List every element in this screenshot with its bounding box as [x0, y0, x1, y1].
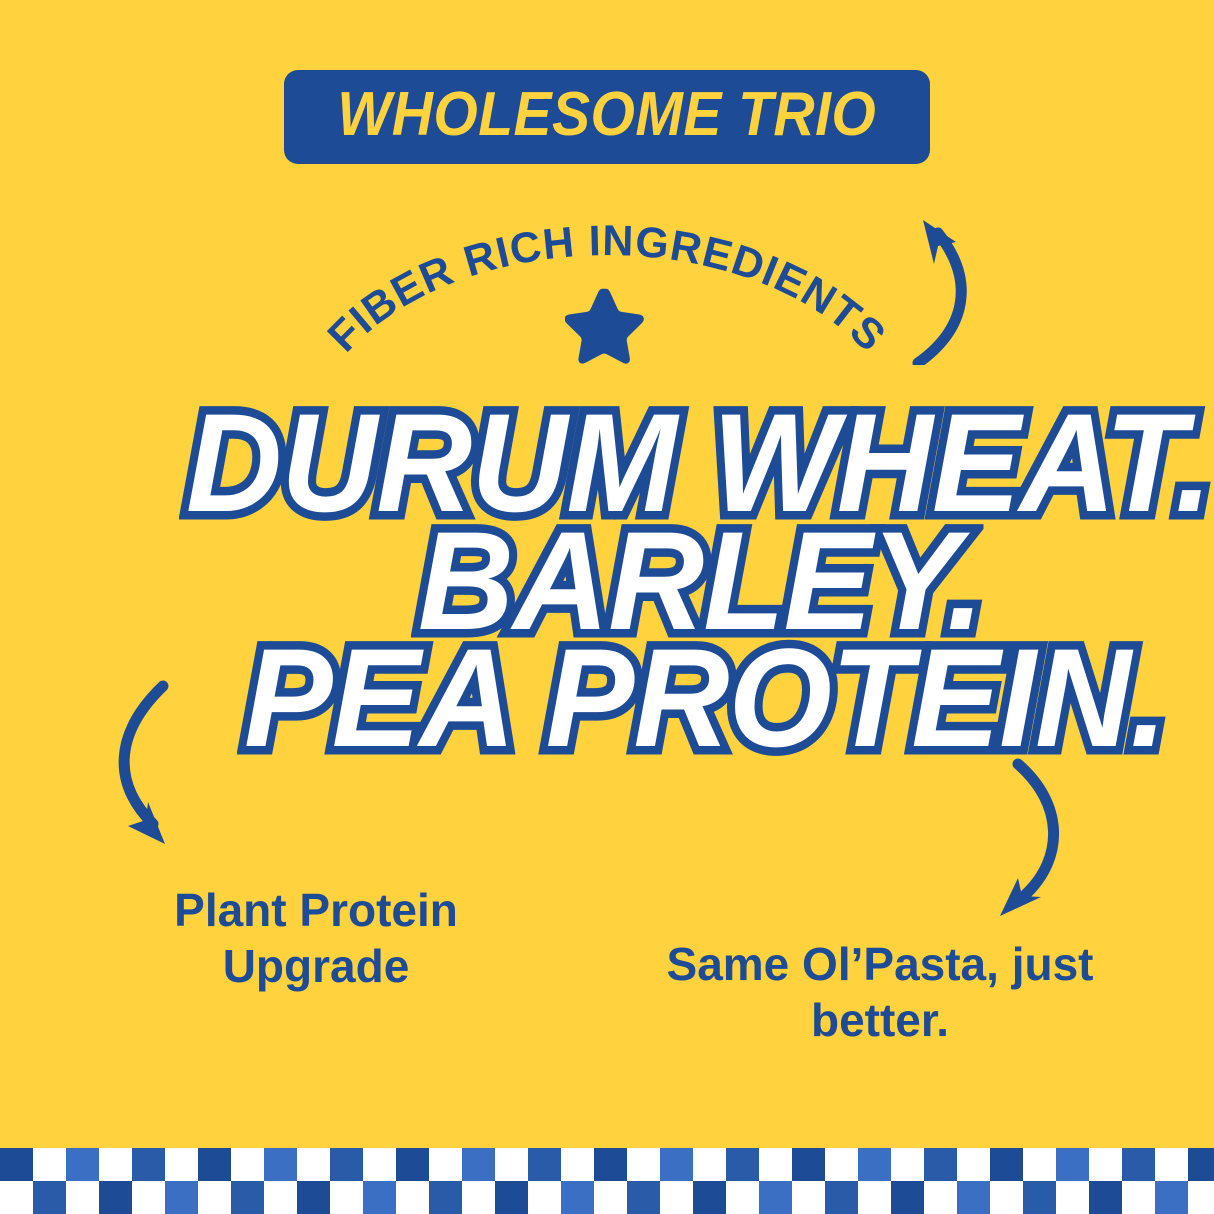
checkerboard-cell — [792, 1148, 825, 1181]
checkerboard-cell — [231, 1148, 264, 1181]
checkerboard-cell — [396, 1181, 429, 1214]
checkerboard-cell — [462, 1181, 495, 1214]
checkerboard-cell — [363, 1148, 396, 1181]
checkerboard-cell — [990, 1148, 1023, 1181]
checkerboard-cell — [264, 1181, 297, 1214]
checkerboard-cell — [330, 1148, 363, 1181]
checkerboard-cell — [264, 1148, 297, 1181]
checkerboard-cell — [1023, 1181, 1056, 1214]
checkerboard-cell — [528, 1181, 561, 1214]
headline-line-pea-protein: PEA PROTEIN. — [244, 639, 1166, 757]
checkerboard-cell — [594, 1181, 627, 1214]
checkerboard-cell — [1188, 1181, 1214, 1214]
checkerboard-cell — [528, 1148, 561, 1181]
checkerboard-cell — [0, 1148, 33, 1181]
checkerboard-cell — [561, 1181, 594, 1214]
checkerboard-cell — [132, 1181, 165, 1214]
checkerboard-cell — [297, 1148, 330, 1181]
checkerboard-cell — [1056, 1148, 1089, 1181]
checkerboard-cell — [429, 1181, 462, 1214]
checkerboard-row — [0, 1181, 1214, 1214]
checkerboard-cell — [165, 1148, 198, 1181]
checkerboard-cell — [1023, 1148, 1056, 1181]
checkerboard-cell — [561, 1148, 594, 1181]
checkerboard-cell — [726, 1148, 759, 1181]
checkerboard-cell — [858, 1181, 891, 1214]
checkerboard-cell — [759, 1148, 792, 1181]
checkerboard-cell — [957, 1181, 990, 1214]
checkerboard-cell — [825, 1181, 858, 1214]
checkerboard-cell — [198, 1181, 231, 1214]
checkerboard-cell — [330, 1181, 363, 1214]
checkerboard-cell — [231, 1181, 264, 1214]
checkerboard-cell — [891, 1181, 924, 1214]
checkerboard-cell — [990, 1181, 1023, 1214]
checkerboard-cell — [891, 1148, 924, 1181]
checkerboard-cell — [924, 1181, 957, 1214]
checkerboard-cell — [1089, 1148, 1122, 1181]
checkerboard-cell — [0, 1181, 33, 1214]
star-icon — [565, 288, 647, 366]
checkerboard-row — [0, 1148, 1214, 1181]
checkerboard-cell — [462, 1148, 495, 1181]
checkerboard-cell — [495, 1148, 528, 1181]
curved-arrow-up-icon — [890, 205, 1000, 365]
checkerboard-cell — [33, 1181, 66, 1214]
checkerboard-cell — [594, 1148, 627, 1181]
checkerboard-cell — [660, 1148, 693, 1181]
checkerboard-cell — [924, 1148, 957, 1181]
checkerboard-cell — [66, 1181, 99, 1214]
checkerboard-cell — [66, 1148, 99, 1181]
checkerboard-cell — [132, 1148, 165, 1181]
checkerboard-cell — [297, 1181, 330, 1214]
curved-arrow-down-left-icon — [988, 742, 1108, 927]
checkerboard-cell — [1188, 1148, 1214, 1181]
checkerboard-cell — [627, 1181, 660, 1214]
checkerboard-cell — [1122, 1148, 1155, 1181]
checkerboard-footer — [0, 1148, 1214, 1214]
checkerboard-cell — [726, 1181, 759, 1214]
checkerboard-cell — [792, 1181, 825, 1214]
checkerboard-cell — [1155, 1181, 1188, 1214]
checkerboard-cell — [825, 1148, 858, 1181]
checkerboard-cell — [759, 1181, 792, 1214]
checkerboard-cell — [99, 1148, 132, 1181]
checkerboard-cell — [99, 1181, 132, 1214]
wholesome-trio-badge-container: WHOLESOME TRIO — [0, 70, 1214, 164]
checkerboard-cell — [693, 1181, 726, 1214]
checkerboard-cell — [1155, 1148, 1188, 1181]
checkerboard-cell — [198, 1148, 231, 1181]
checkerboard-cell — [33, 1148, 66, 1181]
poster-canvas: WHOLESOME TRIO FIBER RICH INGREDIENTS DU… — [0, 0, 1214, 1214]
checkerboard-cell — [1056, 1181, 1089, 1214]
checkerboard-cell — [693, 1148, 726, 1181]
curved-arrow-down-right-icon — [95, 672, 215, 857]
caption-plant-protein-upgrade: Plant Protein Upgrade — [96, 882, 536, 994]
checkerboard-cell — [1122, 1181, 1155, 1214]
checkerboard-cell — [396, 1148, 429, 1181]
checkerboard-cell — [627, 1148, 660, 1181]
checkerboard-cell — [1089, 1181, 1122, 1214]
caption-same-ol-pasta: Same Ol’Pasta, just better. — [660, 936, 1100, 1048]
checkerboard-cell — [957, 1148, 990, 1181]
checkerboard-cell — [429, 1148, 462, 1181]
checkerboard-cell — [660, 1181, 693, 1214]
checkerboard-cell — [363, 1181, 396, 1214]
checkerboard-cell — [165, 1181, 198, 1214]
checkerboard-cell — [495, 1181, 528, 1214]
wholesome-trio-badge: WHOLESOME TRIO — [284, 70, 930, 164]
wholesome-trio-badge-label: WHOLESOME TRIO — [338, 84, 877, 146]
checkerboard-cell — [858, 1148, 891, 1181]
